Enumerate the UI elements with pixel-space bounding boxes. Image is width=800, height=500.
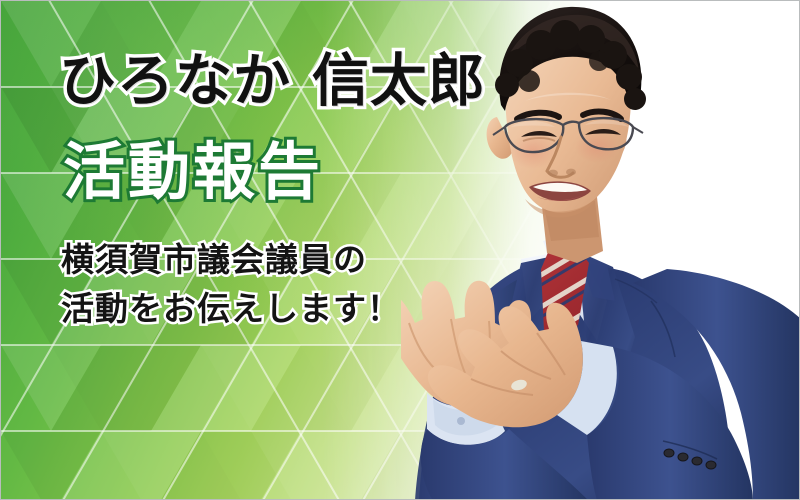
face [487,7,646,218]
activity-report-banner: ひろなか 信太郎 活動報告 横須賀市議会議員の 活動をお伝えします！ [0,0,800,500]
portrait-photo-politician [401,1,800,500]
